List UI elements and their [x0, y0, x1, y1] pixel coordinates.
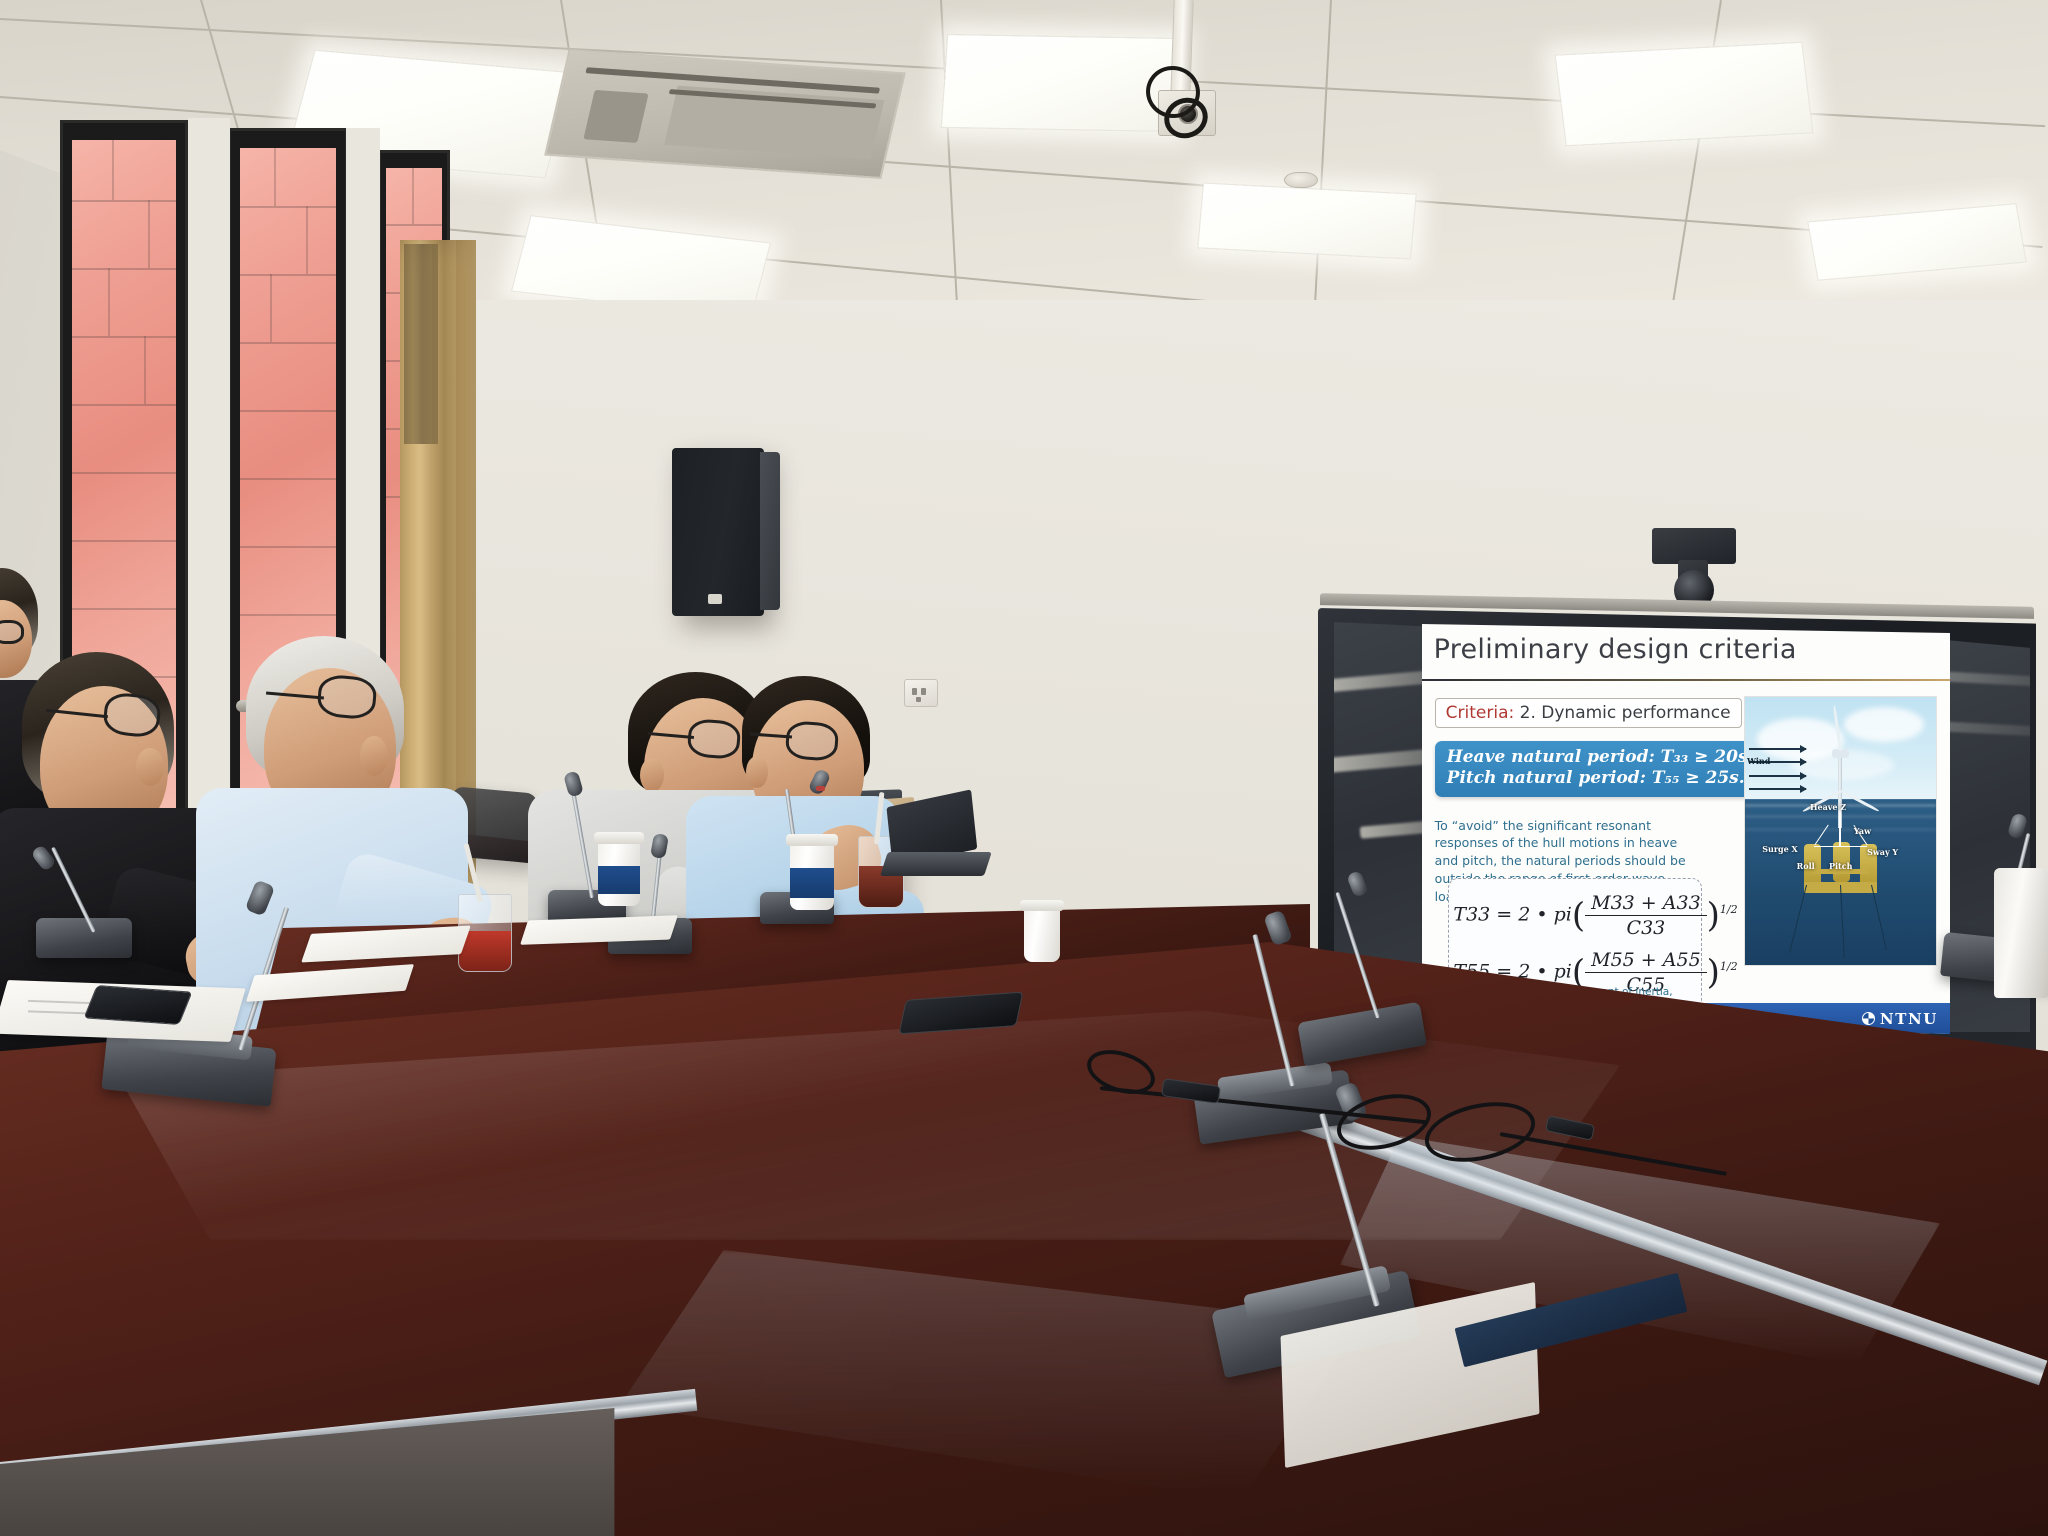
floating-wind-turbine-figure: Wind Heave Z	[1744, 696, 1937, 967]
formula-1-lhs: T33 = 2 • pi	[1453, 904, 1571, 926]
wall-speaker	[672, 448, 764, 616]
slide-title: Preliminary design criteria	[1434, 634, 1797, 665]
dof-label-surge: Surge X	[1762, 844, 1797, 854]
ntnu-mark-icon	[1862, 1012, 1875, 1025]
smoke-detector	[1284, 172, 1318, 188]
ceiling-light-panel	[1197, 183, 1416, 260]
wind-arrow	[1749, 788, 1806, 790]
mooring-line	[1871, 885, 1887, 951]
ntnu-wordmark: NTNU	[1880, 1010, 1938, 1028]
wind-arrow	[1749, 748, 1806, 750]
formula-heave-period: T33 = 2 • pi(M33 + A33C33)1/2	[1453, 887, 1696, 944]
formula-1-numerator: M33 + A33	[1585, 892, 1707, 916]
dof-label-heave: Heave Z	[1810, 802, 1846, 812]
formula-1-exponent: 1/2	[1720, 903, 1738, 916]
eyeglasses	[0, 620, 24, 644]
ear	[746, 756, 768, 788]
ceiling-light-panel	[1555, 42, 1814, 147]
mooring-line	[1789, 885, 1807, 953]
ear	[136, 748, 164, 786]
smartphone[interactable]	[83, 985, 192, 1025]
conference-room-scene: Preliminary design criteria Criteria: 2.…	[0, 0, 2048, 1536]
slide-content: Preliminary design criteria Criteria: 2.…	[1422, 624, 1950, 1034]
mooring-line	[1840, 885, 1845, 957]
slide-title-rule	[1422, 679, 1950, 681]
eyeglasses[interactable]	[785, 720, 840, 762]
banner-line-pitch: Pitch natural period: T₅₅ ≥ 25s.	[1447, 768, 1754, 789]
formula-1-denominator: C33	[1585, 916, 1707, 939]
wall-socket-plate[interactable]	[904, 679, 938, 707]
formula-2-exponent: 1/2	[1720, 960, 1738, 973]
dof-label-yaw: Yaw	[1854, 826, 1871, 836]
wall-camera-mount	[1652, 528, 1736, 564]
coffee-cup[interactable]	[1024, 906, 1060, 962]
criteria-label: Criteria:	[1446, 703, 1515, 723]
laptop-keyboard-deck[interactable]	[880, 852, 992, 876]
window-curtain-shadow	[404, 244, 438, 444]
formula-2-numerator: M55 + A55	[1585, 949, 1707, 973]
microphone-base[interactable]	[36, 918, 132, 958]
dof-label-sway: Sway Y	[1867, 847, 1898, 857]
criteria-value: 2. Dynamic performance	[1520, 703, 1731, 723]
ear	[360, 736, 388, 776]
dof-label-roll: Roll	[1797, 861, 1815, 871]
ear	[640, 758, 664, 792]
ceiling-ac-cassette	[544, 49, 906, 179]
wind-arrow	[1749, 775, 1806, 777]
criteria-badge: Criteria: 2. Dynamic performance	[1435, 698, 1742, 728]
banner-line-heave: Heave natural period: T₃₃ ≥ 20s;	[1447, 747, 1754, 768]
speaker-brand-badge	[708, 594, 722, 604]
ntnu-logo: NTNU	[1862, 1010, 1938, 1028]
wall-speaker-side	[760, 452, 780, 610]
thermos-bottle[interactable]	[1994, 868, 2048, 998]
dof-label-pitch: Pitch	[1829, 861, 1852, 871]
ceiling-light-panel	[1807, 203, 2027, 281]
natural-period-banner: Heave natural period: T₃₃ ≥ 20s; Pitch n…	[1435, 741, 1766, 798]
wind-label: Wind	[1747, 756, 1770, 766]
